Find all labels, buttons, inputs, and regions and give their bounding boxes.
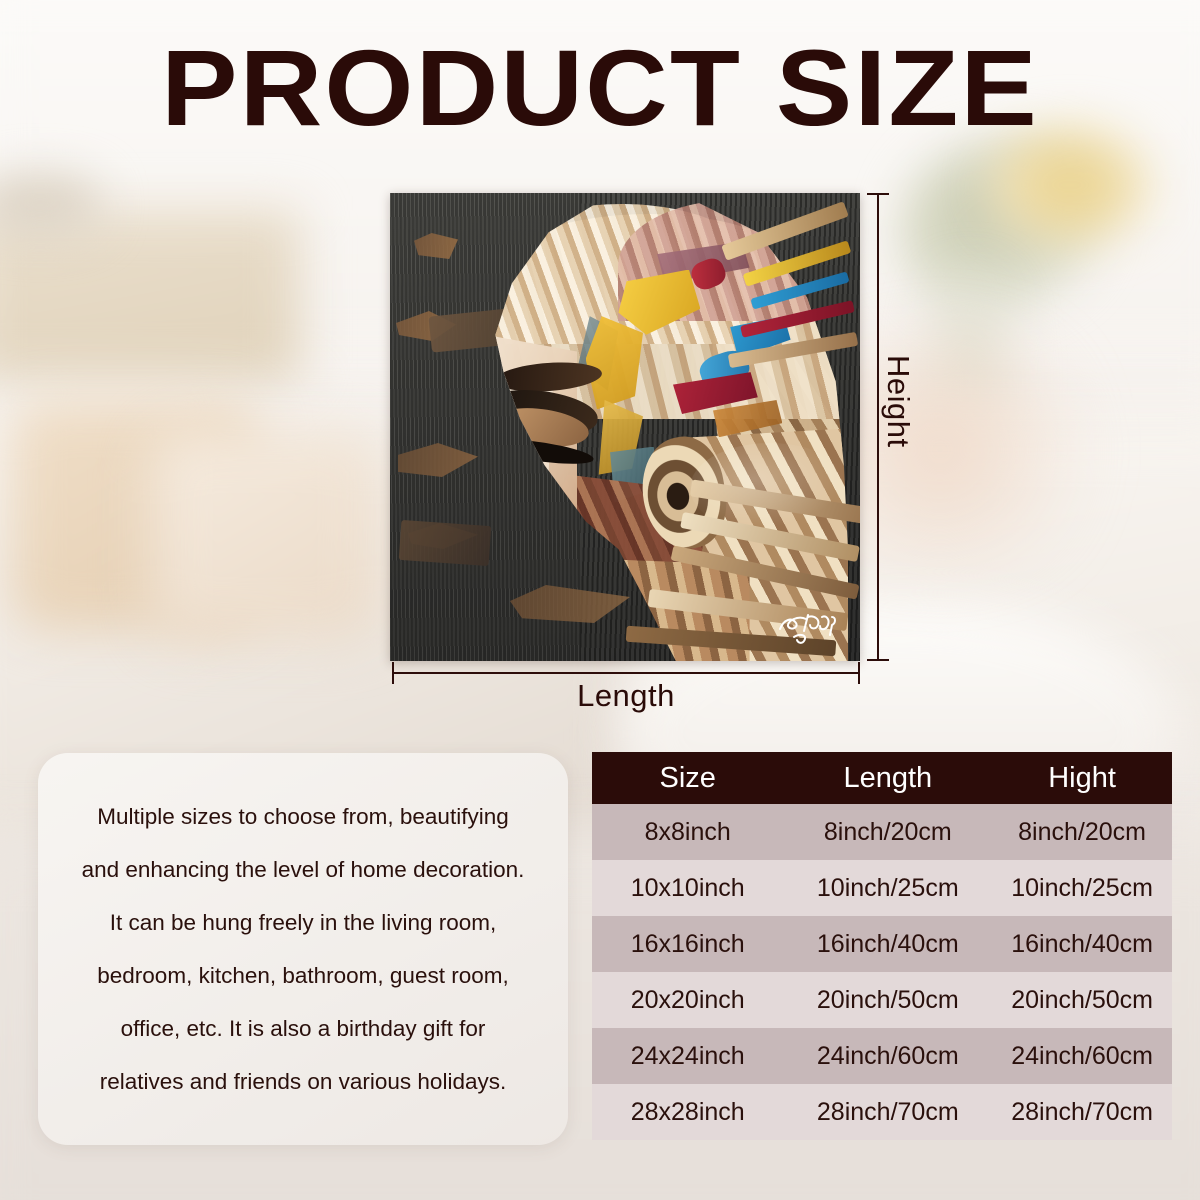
description-panel: Multiple sizes to choose from, beautifyi… [38,753,568,1145]
cell-length: 28inch/70cm [783,1098,992,1127]
cell-size: 24x24inch [592,1042,783,1071]
description-line: office, etc. It is also a birthday gift … [52,1002,554,1055]
height-label: Height [880,355,916,448]
sideboard [0,210,300,380]
table-row[interactable]: 24x24inch 24inch/60cm 24inch/60cm [592,1028,1172,1084]
description-line: and enhancing the level of home decorati… [52,843,554,896]
cell-hight: 28inch/70cm [992,1098,1172,1127]
cell-hight: 16inch/40cm [992,930,1172,959]
cell-length: 10inch/25cm [783,874,992,903]
height-cap-top [867,193,889,195]
cell-size: 16x16inch [592,930,783,959]
table-row[interactable]: 20x20inch 20inch/50cm 20inch/50cm [592,972,1172,1028]
table-row[interactable]: 10x10inch 10inch/25cm 10inch/25cm [592,860,1172,916]
column-header-hight: Hight [992,762,1172,795]
height-cap-bottom [867,659,889,661]
table-header-row: Size Length Hight [592,752,1172,804]
cell-hight: 10inch/25cm [992,874,1172,903]
cell-size: 28x28inch [592,1098,783,1127]
table-row[interactable]: 28x28inch 28inch/70cm 28inch/70cm [592,1084,1172,1140]
column-header-length: Length [783,762,992,795]
size-table: Size Length Hight 8x8inch 8inch/20cm 8in… [592,752,1172,1200]
description-line: Multiple sizes to choose from, beautifyi… [52,790,554,843]
cell-hight: 8inch/20cm [992,818,1172,847]
cell-length: 20inch/50cm [783,986,992,1015]
cell-size: 8x8inch [592,818,783,847]
description-line: It can be hung freely in the living room… [52,896,554,949]
height-dimension-line [877,193,879,661]
page-title: PRODUCT SIZE [0,34,1200,142]
cell-length: 8inch/20cm [783,818,992,847]
sideboard-decor [0,175,100,235]
cell-length: 24inch/60cm [783,1042,992,1071]
artist-signature-icon [774,605,844,647]
description-line: bedroom, kitchen, bathroom, guest room, [52,949,554,1002]
table-row[interactable]: 16x16inch 16inch/40cm 16inch/40cm [592,916,1172,972]
cell-length: 16inch/40cm [783,930,992,959]
cell-size: 20x20inch [592,986,783,1015]
cell-size: 10x10inch [592,874,783,903]
description-line: relatives and friends on various holiday… [52,1055,554,1108]
column-header-size: Size [592,762,783,795]
product-image[interactable] [390,193,860,661]
paint-gloss-highlight [690,443,850,533]
table-row[interactable]: 8x8inch 8inch/20cm 8inch/20cm [592,804,1172,860]
cell-hight: 24inch/60cm [992,1042,1172,1071]
product-image-frame [390,193,860,661]
length-dimension-line [392,672,860,674]
cell-hight: 20inch/50cm [992,986,1172,1015]
paint-slab-2 [399,520,492,566]
length-label: Length [392,678,860,714]
cushion-right [150,430,380,640]
